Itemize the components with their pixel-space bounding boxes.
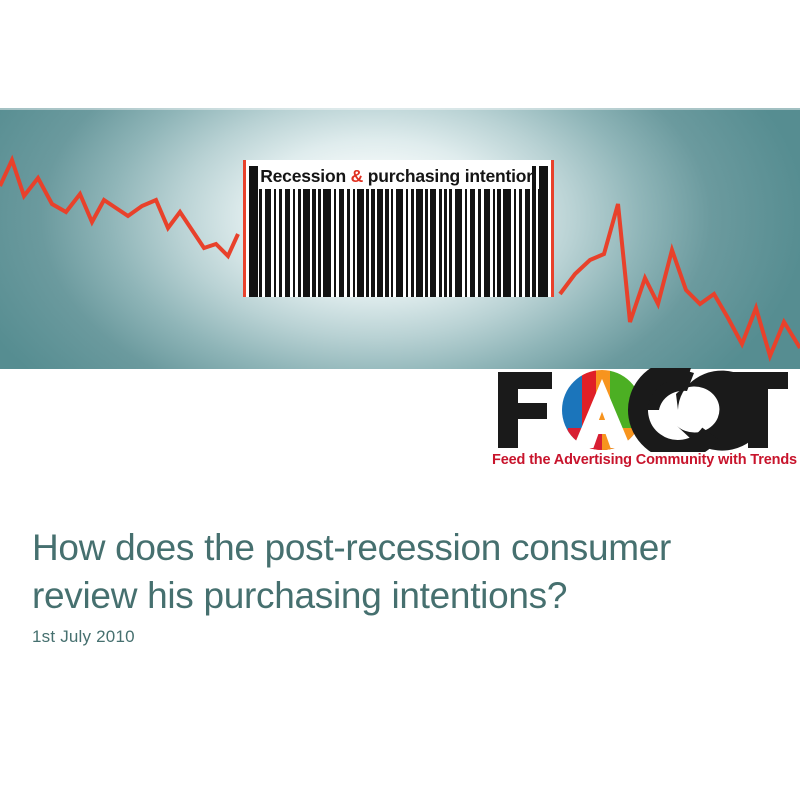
fact-logo-tagline: Feed the Advertising Community with Tren… [492,452,792,468]
title-banner-image: Recession & purchasing intention [0,108,800,369]
page-title-line-2: review his purchasing intentions? [32,572,762,620]
page-title-line-1: How does the post-recession consumer [32,527,671,568]
barcode-bar [323,189,331,297]
fact-logo: Feed the Advertising Community with Tren… [492,368,792,480]
barcode-bars [251,189,547,297]
logo-letter-f [498,372,552,448]
barcode-bar [396,189,403,297]
barcode-title-prefix: Recession [260,166,350,186]
chart-line-right-decline [560,204,800,356]
chart-line-left-decline [0,160,238,256]
page-date: 1st July 2010 [32,627,135,647]
page-title: How does the post-recession consumer rev… [32,524,762,620]
fact-logo-mark [492,368,792,452]
barcode-title: Recession & purchasing intention [243,166,554,187]
barcode-graphic: Recession & purchasing intention [243,160,554,297]
barcode-title-ampersand: & [351,166,363,186]
slide-root: Recession & purchasing intention [0,0,800,800]
barcode-bar [455,189,462,297]
barcode-bar [503,189,511,297]
barcode-title-suffix: purchasing intention [363,166,537,186]
banner-top-edge [0,108,800,110]
